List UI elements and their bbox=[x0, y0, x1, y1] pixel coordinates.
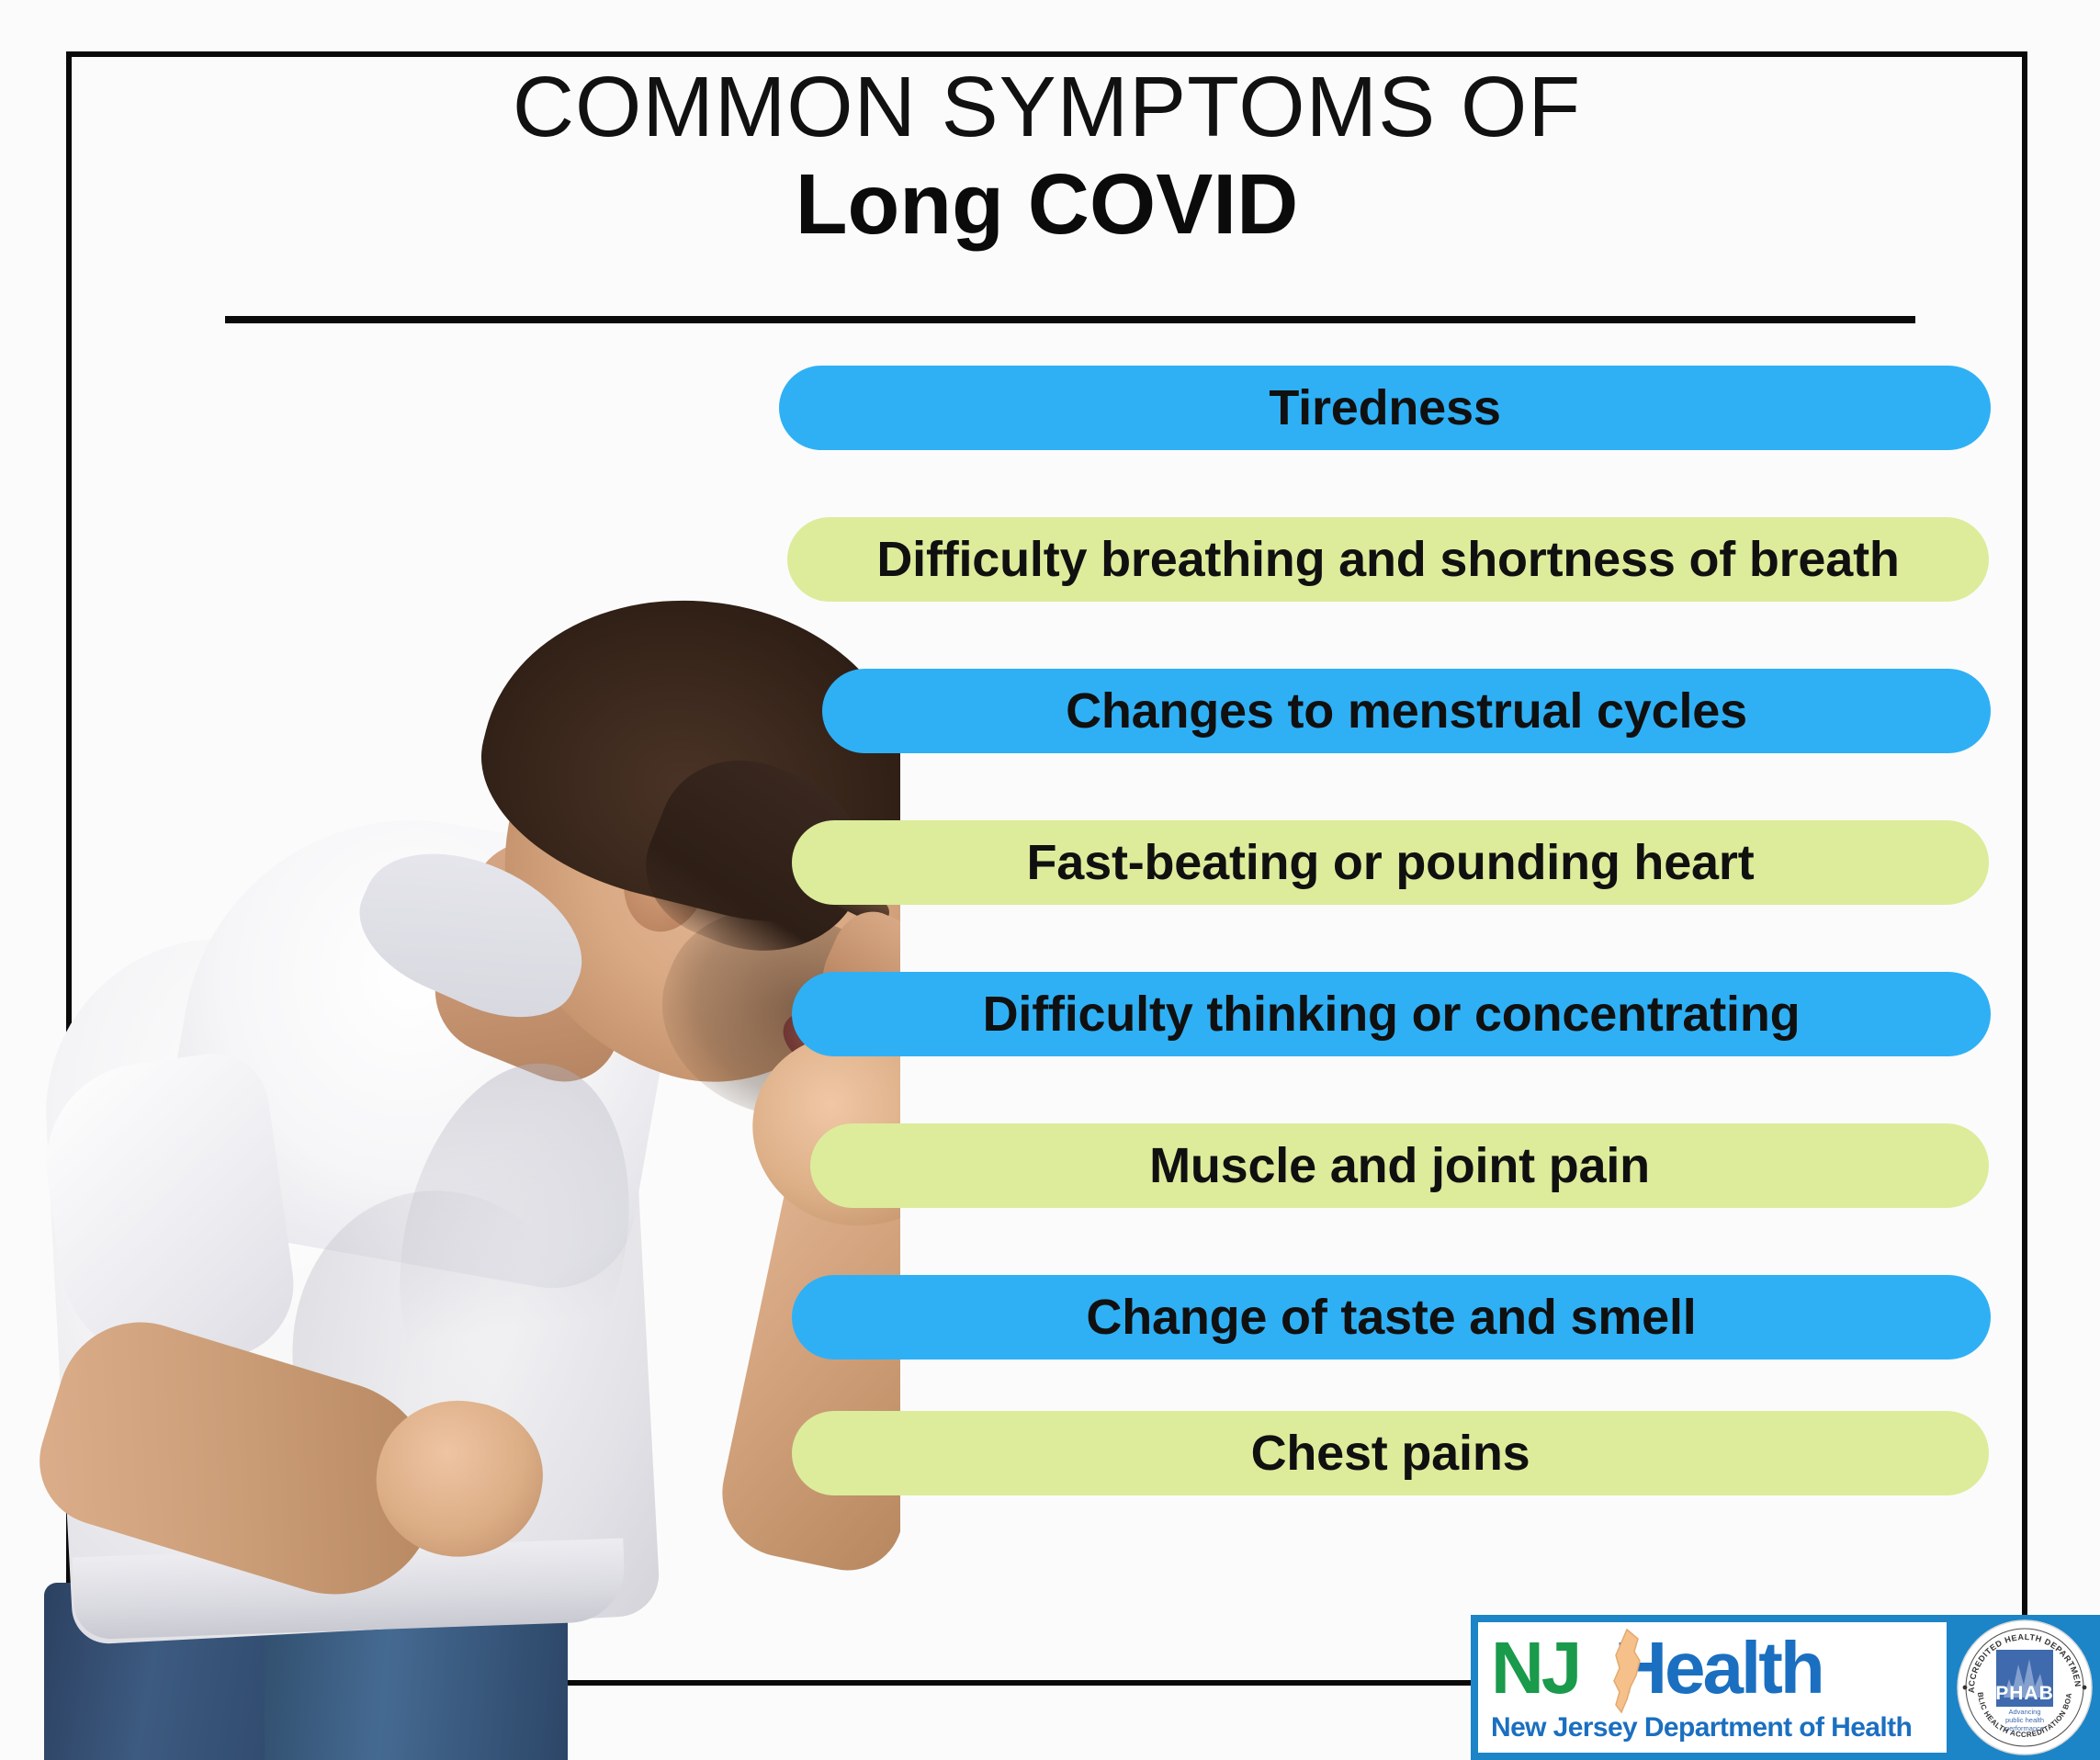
symptom-pill-label: Difficulty breathing and shortness of br… bbox=[876, 531, 1899, 588]
symptom-pill: Muscle and joint pain bbox=[810, 1123, 1989, 1208]
new-jersey-state-icon bbox=[1603, 1628, 1651, 1716]
symptom-pill: Chest pains bbox=[792, 1411, 1989, 1495]
logo-white-panel: NJ Health New Jersey Department of Healt… bbox=[1478, 1622, 1947, 1753]
title-line-2: Long COVID bbox=[66, 152, 2027, 256]
logo-subtitle: New Jersey Department of Health bbox=[1491, 1712, 1947, 1743]
symptom-pill: Difficulty thinking or concentrating bbox=[792, 972, 1991, 1056]
title-line-1: COMMON SYMPTOMS OF bbox=[66, 61, 2027, 152]
symptom-pill-label: Difficulty thinking or concentrating bbox=[983, 986, 1801, 1043]
coughing-man-photo bbox=[18, 547, 900, 1760]
long-covid-symptoms-poster: COMMON SYMPTOMS OF Long COVID TirednessD… bbox=[0, 0, 2100, 1760]
phab-accreditation-seal-icon: PHAB Advancing public health performance… bbox=[1956, 1619, 2094, 1756]
title-divider-rule bbox=[225, 316, 1915, 323]
symptom-pill: Changes to menstrual cycles bbox=[822, 669, 1991, 753]
symptom-pill-label: Chest pains bbox=[1251, 1425, 1530, 1482]
logo-wordmark: NJ Health bbox=[1491, 1631, 1947, 1710]
svg-text:public health: public health bbox=[2005, 1716, 2044, 1724]
svg-text:PHAB: PHAB bbox=[1995, 1683, 2054, 1704]
symptom-pill: Tiredness bbox=[779, 366, 1991, 450]
symptom-pill-label: Fast-beating or pounding heart bbox=[1027, 834, 1755, 891]
symptom-pill: Fast-beating or pounding heart bbox=[792, 820, 1989, 905]
symptom-pill: Change of taste and smell bbox=[792, 1275, 1991, 1359]
svg-text:Advancing: Advancing bbox=[2008, 1708, 2040, 1716]
symptom-pill-label: Tiredness bbox=[1269, 379, 1500, 436]
symptom-pill-label: Change of taste and smell bbox=[1086, 1289, 1696, 1346]
logo-nj-text: NJ bbox=[1491, 1631, 1579, 1705]
poster-title-block: COMMON SYMPTOMS OF Long COVID bbox=[66, 61, 2027, 257]
symptom-pill: Difficulty breathing and shortness of br… bbox=[787, 517, 1989, 602]
symptom-pill-label: Muscle and joint pain bbox=[1149, 1137, 1650, 1194]
symptom-pill-label: Changes to menstrual cycles bbox=[1066, 683, 1747, 739]
nj-health-logo: NJ Health New Jersey Department of Healt… bbox=[1471, 1615, 2100, 1760]
